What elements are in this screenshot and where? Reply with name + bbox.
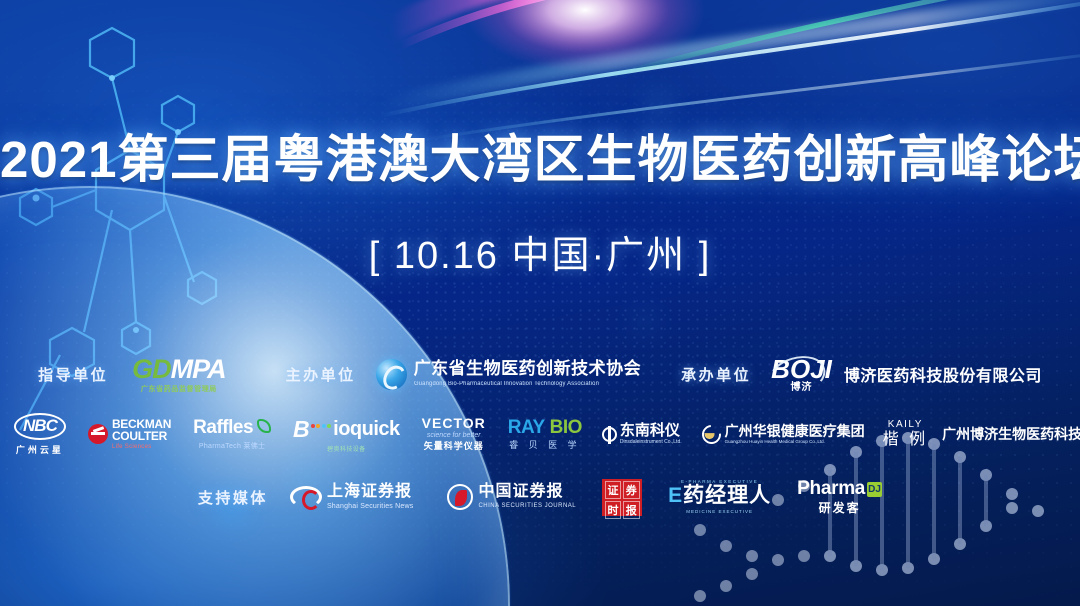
- association-emblem-icon: [376, 359, 407, 390]
- eyao-name-cn: 药经理人: [683, 484, 771, 507]
- logo-raffles-pharmatech: Raffles PharmaTech 莱佛士: [193, 417, 271, 451]
- bioquick-wordmark: ioquick: [333, 418, 400, 441]
- beckman-line3: Life Sciences: [112, 444, 171, 450]
- shanghai-securities-name-cn: 上海证券报: [327, 484, 414, 501]
- glow-dot: [640, 318, 649, 327]
- dongnan-name-cn: 东南科仪: [620, 423, 682, 438]
- kaily-name-en: KAILY: [888, 419, 923, 430]
- bioquick-subtitle: 碧奥科技设备: [327, 444, 365, 453]
- nbc-monogram-icon: NBC: [14, 413, 66, 440]
- logo-vector: VECTOR science for better 矢量科学仪器: [422, 416, 486, 452]
- seal-char-2: 券: [623, 481, 640, 499]
- logo-beckman-coulter: BECKMAN COULTER Life Sciences: [88, 418, 171, 450]
- yunxing-name-cn: 广州云星: [16, 443, 64, 456]
- seal-char-3: 时: [605, 501, 622, 519]
- page-title: 2021第三届粤港澳大湾区生物医药创新高峰论坛: [0, 118, 1080, 192]
- shanghai-securities-name-en: Shanghai Securities News: [327, 503, 414, 510]
- sponsor-section: 指导单位 GDMPA 广东省药品监督管理局 主办单位 广东省生物医药创新技术协会…: [0, 348, 1080, 524]
- subtitle-block: [ 10.16 中国·广州 ]: [0, 224, 1080, 279]
- logo-huayin-health: 广州华银健康医疗集团 Guangzhou Huayin Health Medic…: [702, 424, 865, 445]
- huayin-name-cn: 广州华银健康医疗集团: [725, 424, 865, 438]
- vector-name-cn: 矢量科学仪器: [424, 442, 484, 452]
- raybio-name-cn: 睿 贝 医 学: [509, 441, 581, 451]
- dongnan-mark-icon: [602, 427, 617, 442]
- huayin-mark-icon: [698, 421, 725, 448]
- label-supporting-media: 支持媒体: [198, 487, 268, 508]
- boji-company-name: 博济医药科技股份有限公司: [844, 362, 1042, 386]
- beckman-mark-icon: [88, 424, 108, 444]
- pharmadj-badge-icon: DJ: [867, 482, 882, 497]
- glow-dot: [654, 98, 665, 109]
- bioquick-dots-icon: [311, 424, 332, 428]
- beckman-line2: COULTER: [112, 430, 171, 442]
- sponsor-row-coorganizers: 协办单位 NBC 广州云星 BECKMAN COULTER Life Scien…: [0, 408, 1080, 460]
- bioquick-b-letter: B: [293, 416, 310, 443]
- vector-wordmark: VECTOR: [422, 416, 486, 431]
- label-host-unit: 主办单位: [286, 364, 356, 385]
- association-name-en: Guangdong Bio-Pharmaceutical Innovation …: [414, 381, 635, 387]
- vector-tagline: science for better: [427, 432, 481, 440]
- china-securities-name-en: CHINA SECURITIES JOURNAL: [478, 503, 576, 509]
- china-securities-mark-icon: [447, 484, 473, 510]
- china-securities-name-cn: 中国证券报: [478, 484, 576, 501]
- logo-dongnan-instrument: 东南科仪 Dinsdaleinstrument Co.,Ltd.: [602, 423, 682, 445]
- eyao-e-letter: E: [668, 484, 683, 507]
- logo-bioquick: B ioquick 碧奥科技设备: [293, 416, 400, 453]
- label-organizer-unit: 承办单位: [681, 364, 751, 385]
- event-date-location: [ 10.16 中国·广州 ]: [369, 224, 712, 279]
- kaily-name-cn: 楷 例: [883, 431, 928, 449]
- sponsor-row-media: 支持媒体 上海证券报 Shanghai Securities News 中国证券…: [0, 470, 1080, 524]
- title-block: 2021第三届粤港澳大湾区生物医药创新高峰论坛: [0, 118, 1080, 192]
- pharmadj-wordmark: Pharma: [797, 479, 865, 500]
- logo-pharmadj: Pharma DJ 研发客: [797, 479, 882, 515]
- logo-boji: BOJI 博济: [771, 356, 832, 393]
- raffles-subtitle: PharmaTech 莱佛士: [199, 441, 265, 451]
- dongnan-name-en: Dinsdaleinstrument Co.,Ltd.: [620, 440, 682, 445]
- gdmpa-mpa-text: MPA: [171, 354, 226, 384]
- gdmpa-gd-text: GD: [132, 354, 171, 384]
- seal-char-4: 报: [623, 501, 640, 519]
- pharmadj-name-cn: 研发客: [819, 502, 861, 515]
- logo-guangzhou-yunxing: NBC 广州云星: [14, 413, 66, 456]
- gdmpa-subtitle: 广东省药品监督管理局: [141, 386, 217, 393]
- raybio-bio-text: BIO: [550, 418, 582, 439]
- logo-gdmpa: GDMPA 广东省药品监督管理局: [132, 356, 226, 393]
- raffles-heart-icon: [257, 419, 271, 433]
- raybio-ray-text: RAY: [508, 418, 545, 439]
- label-guidance-unit: 指导单位: [38, 364, 108, 385]
- eyao-subtitle: MEDICINE EXECUTIVE: [686, 510, 753, 515]
- logo-china-securities-journal: 中国证券报 CHINA SECURITIES JOURNAL: [447, 484, 576, 510]
- logo-shanghai-securities-news: 上海证券报 Shanghai Securities News: [290, 484, 414, 510]
- logo-raybio: RAY BIO 睿 贝 医 学: [508, 418, 582, 451]
- logo-eyao-executive: E-PHARMA EXECUTIVE E药经理人 MEDICINE EXECUT…: [668, 480, 771, 514]
- shanghai-securities-mark-icon: [290, 486, 322, 508]
- raffles-wordmark: Raffles: [193, 417, 253, 439]
- sponsor-row-primary: 指导单位 GDMPA 广东省药品监督管理局 主办单位 广东省生物医药创新技术协会…: [0, 348, 1080, 400]
- conference-poster: 2021第三届粤港澳大湾区生物医药创新高峰论坛 [ 10.16 中国·广州 ] …: [0, 0, 1080, 606]
- seal-char-1: 证: [605, 481, 622, 499]
- logo-gd-biopharma-association: 广东省生物医药创新技术协会 Guangdong Bio-Pharmaceutic…: [376, 359, 642, 390]
- logo-kaily: KAILY 楷 例: [883, 419, 928, 449]
- huayin-name-en: Guangzhou Huayin Health Medical Group Co…: [725, 440, 865, 445]
- association-name-cn: 广东省生物医药创新技术协会: [414, 360, 642, 378]
- logo-securities-times-seal: 证 券 时 报: [602, 479, 642, 516]
- boji-park-company-name: 广州博济生物医药科技园有限公司: [942, 424, 1080, 444]
